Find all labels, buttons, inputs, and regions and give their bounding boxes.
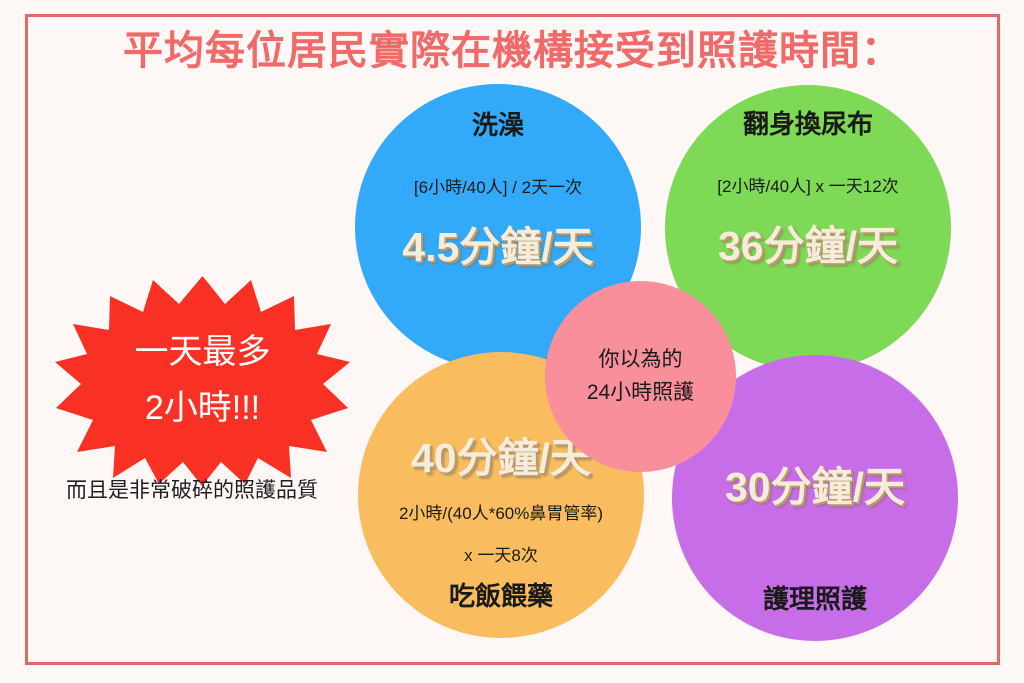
page-title: 平均每位居民實際在機構接受到照護時間：	[25, 26, 1000, 76]
circle-feeding-medication-formula: 2小時/(40人*60%鼻胃管率)	[399, 503, 603, 525]
circle-turning-diaper-value: 36分鐘/天	[718, 224, 898, 269]
starburst-callout: 一天最多 2小時!!!	[55, 274, 350, 486]
circle-bathing-formula: [6小時/40人] / 2天一次	[414, 177, 582, 199]
circle-bathing-label: 洗澡	[472, 110, 524, 141]
circle-feeding-medication-value: 40分鐘/天	[411, 436, 591, 481]
circle-bathing-value: 4.5分鐘/天	[402, 225, 593, 270]
circle-turning-diaper-label: 翻身換尿布	[743, 109, 873, 140]
circle-perceived-care: 你以為的 24小時照護	[545, 281, 736, 472]
circle-nursing-care-value: 30分鐘/天	[725, 465, 905, 510]
circle-feeding-medication-formula2: x 一天8次	[464, 545, 538, 567]
circle-perceived-care-line1: 你以為的	[599, 344, 683, 377]
circle-nursing-care-label: 護理照護	[763, 584, 867, 615]
circle-feeding-medication-label: 吃飯餵藥	[449, 581, 553, 612]
infographic-canvas: 平均每位居民實際在機構接受到照護時間： 洗澡 [6小時/40人] / 2天一次 …	[0, 0, 1024, 683]
quality-caption: 而且是非常破碎的照護品質	[42, 474, 342, 504]
circle-perceived-care-line2: 24小時照護	[587, 377, 694, 410]
starburst-icon	[55, 274, 350, 486]
circle-turning-diaper-formula: [2小時/40人] x 一天12次	[717, 176, 898, 198]
